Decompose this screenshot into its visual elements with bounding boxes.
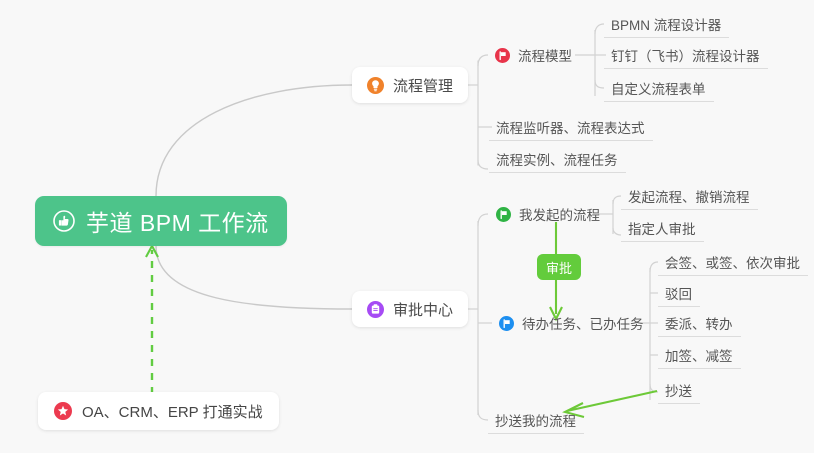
thumbs-up-icon bbox=[53, 210, 75, 232]
node-label: 指定人审批 bbox=[628, 218, 696, 238]
edge-mine-to-designate bbox=[613, 228, 621, 235]
flag-icon bbox=[496, 207, 511, 222]
flag-icon bbox=[495, 48, 510, 63]
node-label: 待办任务、已办任务 bbox=[522, 313, 644, 333]
edge-root-to-process-management bbox=[156, 85, 352, 196]
edge-todo-to-cc bbox=[650, 384, 658, 392]
node-label: 抄送 bbox=[665, 380, 692, 400]
node-my-initiated-process[interactable]: 我发起的流程 bbox=[489, 200, 608, 228]
node-label: 会签、或签、依次审批 bbox=[665, 252, 800, 272]
node-process-model[interactable]: 流程模型 bbox=[488, 41, 580, 69]
edge-model-to-bpmn bbox=[595, 24, 604, 34]
branch-label: 审批中心 bbox=[393, 299, 453, 320]
mindmap-canvas: 芋道 BPM 工作流 流程管理 流程模型 BPMN 流程设计器 钉钉 bbox=[0, 0, 814, 453]
node-label: 委派、转办 bbox=[665, 313, 733, 333]
node-label: 抄送我的流程 bbox=[495, 410, 576, 430]
edge-ac-to-ccme bbox=[478, 410, 488, 420]
star-icon bbox=[54, 402, 72, 420]
node-label: BPMN 流程设计器 bbox=[611, 14, 721, 34]
root-label: 芋道 BPM 工作流 bbox=[86, 204, 269, 238]
node-designated-approver[interactable]: 指定人审批 bbox=[621, 214, 704, 242]
edge-pm-to-instance bbox=[478, 160, 488, 169]
edge-mine-to-start bbox=[613, 196, 621, 204]
node-start-cancel-process[interactable]: 发起流程、撤销流程 bbox=[621, 182, 758, 210]
node-label: 流程实例、流程任务 bbox=[496, 149, 618, 169]
flag-icon bbox=[499, 316, 514, 331]
node-label: 我发起的流程 bbox=[519, 204, 600, 224]
node-dingtalk-feishu-designer[interactable]: 钉钉（飞书）流程设计器 bbox=[604, 41, 768, 69]
node-label: 发起流程、撤销流程 bbox=[628, 186, 750, 206]
edge-root-to-approval-center bbox=[156, 246, 352, 309]
approval-annotation-label: 审批 bbox=[546, 258, 572, 277]
arrow-note-to-root-head bbox=[146, 246, 158, 257]
node-bpmn-designer[interactable]: BPMN 流程设计器 bbox=[604, 10, 729, 38]
node-label: 驳回 bbox=[665, 283, 692, 303]
edge-pm-to-process-model bbox=[478, 55, 488, 66]
node-add-remove-sign[interactable]: 加签、减签 bbox=[658, 341, 741, 369]
node-delegate-transfer[interactable]: 委派、转办 bbox=[658, 309, 741, 337]
branch-label: 流程管理 bbox=[393, 75, 453, 96]
clipboard-icon bbox=[367, 301, 384, 318]
node-carbon-copy[interactable]: 抄送 bbox=[658, 376, 700, 404]
node-reject[interactable]: 驳回 bbox=[658, 279, 700, 307]
lightbulb-icon bbox=[367, 77, 384, 94]
node-cc-to-me-process[interactable]: 抄送我的流程 bbox=[488, 406, 584, 434]
bottom-note-label: OA、CRM、ERP 打通实战 bbox=[82, 401, 263, 422]
node-label: 自定义流程表单 bbox=[611, 78, 706, 98]
node-process-listener-expression[interactable]: 流程监听器、流程表达式 bbox=[489, 113, 653, 141]
node-countersign-orsign-sequential[interactable]: 会签、或签、依次审批 bbox=[658, 248, 808, 276]
node-label: 流程监听器、流程表达式 bbox=[496, 117, 645, 137]
branch-process-management[interactable]: 流程管理 bbox=[352, 67, 468, 103]
node-custom-process-form[interactable]: 自定义流程表单 bbox=[604, 74, 714, 102]
node-todo-done-task[interactable]: 待办任务、已办任务 bbox=[492, 309, 652, 337]
edge-todo-to-cs bbox=[650, 262, 658, 272]
edge-model-to-customform bbox=[595, 80, 604, 88]
node-process-instance-task[interactable]: 流程实例、流程任务 bbox=[489, 145, 626, 173]
edge-ac-to-mine bbox=[478, 214, 488, 226]
node-label: 加签、减签 bbox=[665, 345, 733, 365]
approval-annotation-pill: 审批 bbox=[537, 254, 581, 280]
branch-approval-center[interactable]: 审批中心 bbox=[352, 291, 468, 327]
bottom-note-card[interactable]: OA、CRM、ERP 打通实战 bbox=[38, 392, 279, 430]
root-node[interactable]: 芋道 BPM 工作流 bbox=[35, 196, 287, 246]
node-label: 流程模型 bbox=[518, 45, 572, 65]
node-label: 钉钉（飞书）流程设计器 bbox=[611, 45, 760, 65]
